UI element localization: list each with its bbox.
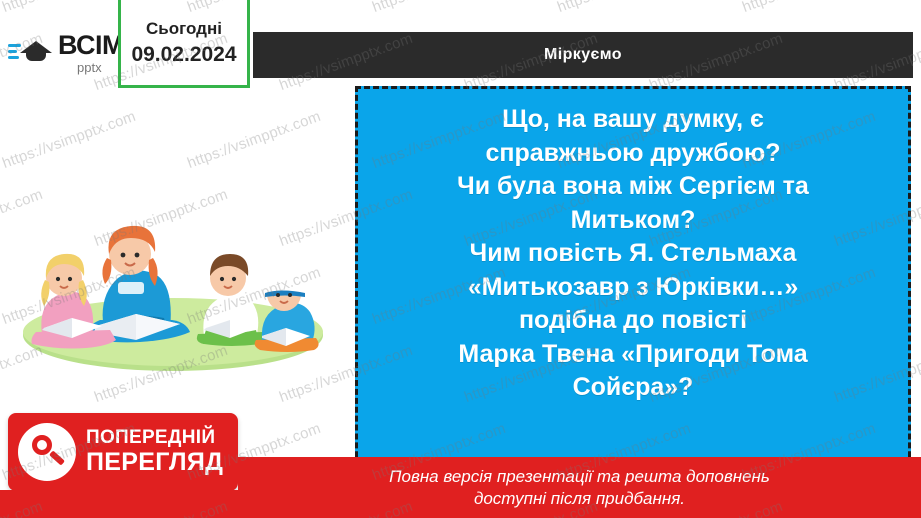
watermark-text: https://vsimpptx.com bbox=[555, 0, 693, 16]
watermark-text: https://vsimpptx.com bbox=[740, 0, 878, 16]
question-line: справжньою дружбою? bbox=[367, 137, 899, 171]
date-badge-label: Сьогодні bbox=[146, 19, 222, 39]
brand-name: ВСІМ bbox=[58, 30, 124, 60]
page-title: Міркуємо bbox=[544, 46, 622, 64]
notice-line-1: Повна версія презентації та решта доповн… bbox=[389, 466, 770, 488]
magnifier-icon bbox=[18, 423, 76, 481]
illustration-svg bbox=[8, 150, 338, 380]
preview-badge-line1: ПОПЕРЕДНІЙ bbox=[86, 428, 223, 449]
question-line: «Митькозавр з Юрківки…» bbox=[367, 271, 899, 305]
purchase-notice-bar: Повна версія презентації та решта доповн… bbox=[238, 457, 921, 518]
question-line: Сойєра»? bbox=[367, 371, 899, 405]
question-line: Чи була вона між Сергієм та bbox=[367, 170, 899, 204]
preview-badge: ПОПЕРЕДНІЙ ПЕРЕГЛЯД bbox=[8, 413, 238, 491]
watermark-text: https://vsimpptx.com bbox=[370, 0, 508, 16]
date-badge: Сьогодні 09.02.2024 bbox=[118, 0, 250, 88]
question-panel: Що, на вашу думку, єсправжньою дружбою?Ч… bbox=[355, 86, 911, 484]
graduation-cap-icon bbox=[8, 33, 54, 73]
bottom-red-strip bbox=[0, 490, 238, 518]
date-badge-date: 09.02.2024 bbox=[131, 43, 236, 67]
slide-canvas: ВСІМ pptx Сьогодні 09.02.2024 Міркуємо Щ… bbox=[0, 0, 921, 518]
preview-badge-labels: ПОПЕРЕДНІЙ ПЕРЕГЛЯД bbox=[86, 428, 223, 476]
notice-line-2: доступні після придбання. bbox=[474, 488, 685, 510]
question-line: Що, на вашу думку, є bbox=[367, 103, 899, 137]
preview-badge-line2: ПЕРЕГЛЯД bbox=[86, 449, 223, 476]
question-line: Митьком? bbox=[367, 204, 899, 238]
children-reading-illustration bbox=[8, 150, 338, 380]
question-line: Марка Твена «Пригоди Тома bbox=[367, 338, 899, 372]
question-text: Що, на вашу думку, єсправжньою дружбою?Ч… bbox=[367, 103, 899, 405]
brand-sub: pptx bbox=[77, 61, 124, 74]
slide-header-bar: Міркуємо bbox=[253, 32, 913, 78]
question-line: Чим повість Я. Стельмаха bbox=[367, 237, 899, 271]
brand-logo-text: ВСІМ pptx bbox=[58, 32, 124, 74]
question-line: подібна до повісті bbox=[367, 304, 899, 338]
